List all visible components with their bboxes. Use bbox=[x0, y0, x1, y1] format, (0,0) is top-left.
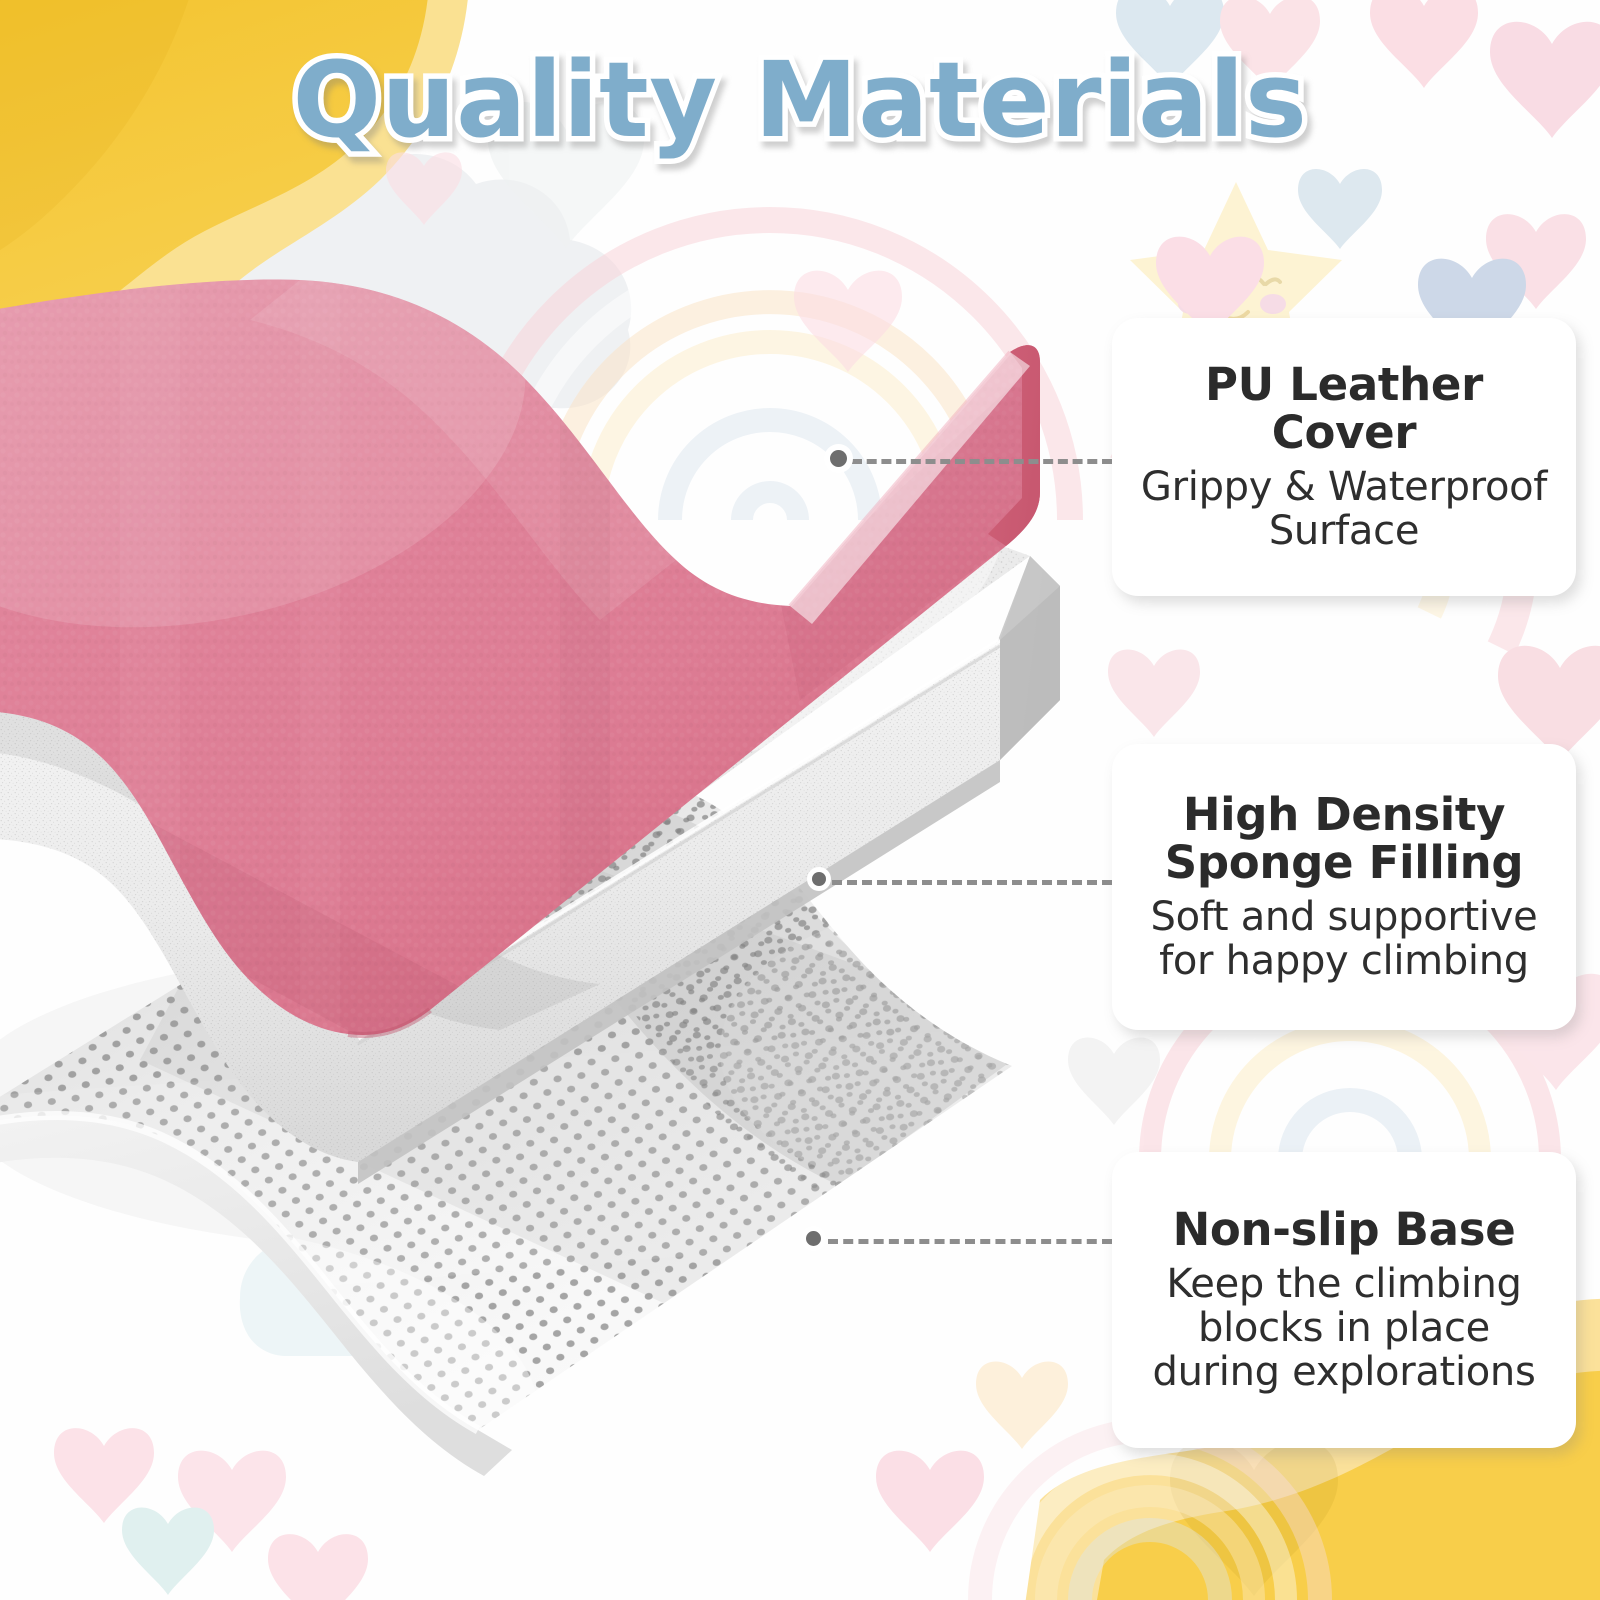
feature-card-high-density-sponge-filling: High Density Sponge Filling Soft and sup… bbox=[1112, 744, 1576, 1030]
feature-body-non-slip-base: Keep the climbing blocks in place during… bbox=[1152, 1262, 1535, 1394]
feature-body-pu-leather-cover: Grippy & Waterproof Surface bbox=[1141, 465, 1547, 553]
feature-title-high-density-sponge-filling: High Density Sponge Filling bbox=[1165, 791, 1523, 886]
feature-body-line: blocks in place bbox=[1152, 1306, 1535, 1350]
feature-title-pu-leather-cover: PU Leather Cover bbox=[1126, 361, 1562, 456]
feature-body-line: Surface bbox=[1141, 509, 1547, 553]
feature-body-line: Keep the climbing bbox=[1152, 1262, 1535, 1306]
feature-body-line: Soft and supportive bbox=[1151, 895, 1538, 939]
page-title-wrapper: Quality Materials bbox=[0, 42, 1600, 158]
feature-body-line: during explorations bbox=[1152, 1350, 1535, 1394]
infographic-canvas: Quality Materials PU Leather Cover Gripp… bbox=[0, 0, 1600, 1600]
product-layer-illustration bbox=[0, 0, 1140, 1600]
feature-title-line: Sponge Filling bbox=[1165, 839, 1523, 887]
feature-card-non-slip-base: Non-slip Base Keep the climbing blocks i… bbox=[1112, 1152, 1576, 1448]
feature-card-pu-leather-cover: PU Leather Cover Grippy & Waterproof Sur… bbox=[1112, 318, 1576, 596]
feature-body-high-density-sponge-filling: Soft and supportive for happy climbing bbox=[1151, 895, 1538, 983]
feature-title-non-slip-base: Non-slip Base bbox=[1173, 1206, 1516, 1254]
feature-title-line: High Density bbox=[1165, 791, 1523, 839]
feature-body-line: Grippy & Waterproof bbox=[1141, 465, 1547, 509]
page-title: Quality Materials bbox=[293, 42, 1308, 158]
feature-body-line: for happy climbing bbox=[1151, 939, 1538, 983]
